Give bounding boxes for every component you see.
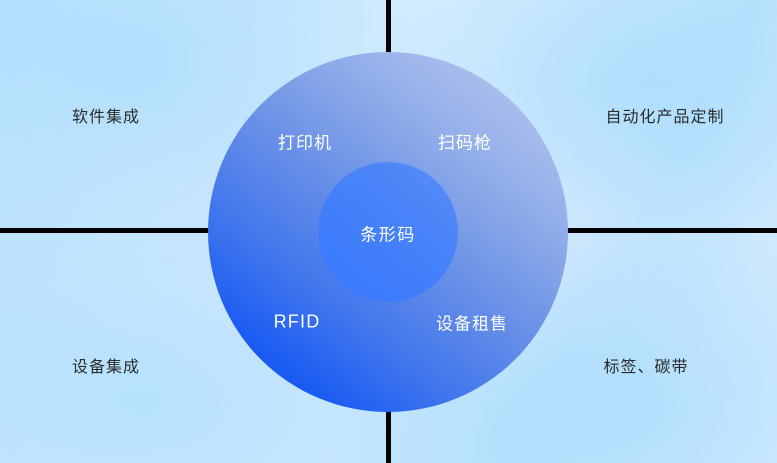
core-label: 条形码 [360,221,416,246]
outer-label-bottom-right: 标签、碳带 [603,353,688,377]
ring-label-bottom-right: 设备租售 [436,310,508,335]
ring-label-top-right: 扫码枪 [438,129,492,154]
outer-label-top-left: 软件集成 [72,103,140,127]
ring-label-top-left: 打印机 [278,129,332,154]
ring-label-bottom-left: RFID [274,312,321,333]
diagram-canvas: 软件集成 自动化产品定制 设备集成 标签、碳带 打印机 扫码枪 RFID 设备租… [0,0,777,463]
outer-label-bottom-left: 设备集成 [72,353,140,377]
outer-label-top-right: 自动化产品定制 [605,103,724,127]
